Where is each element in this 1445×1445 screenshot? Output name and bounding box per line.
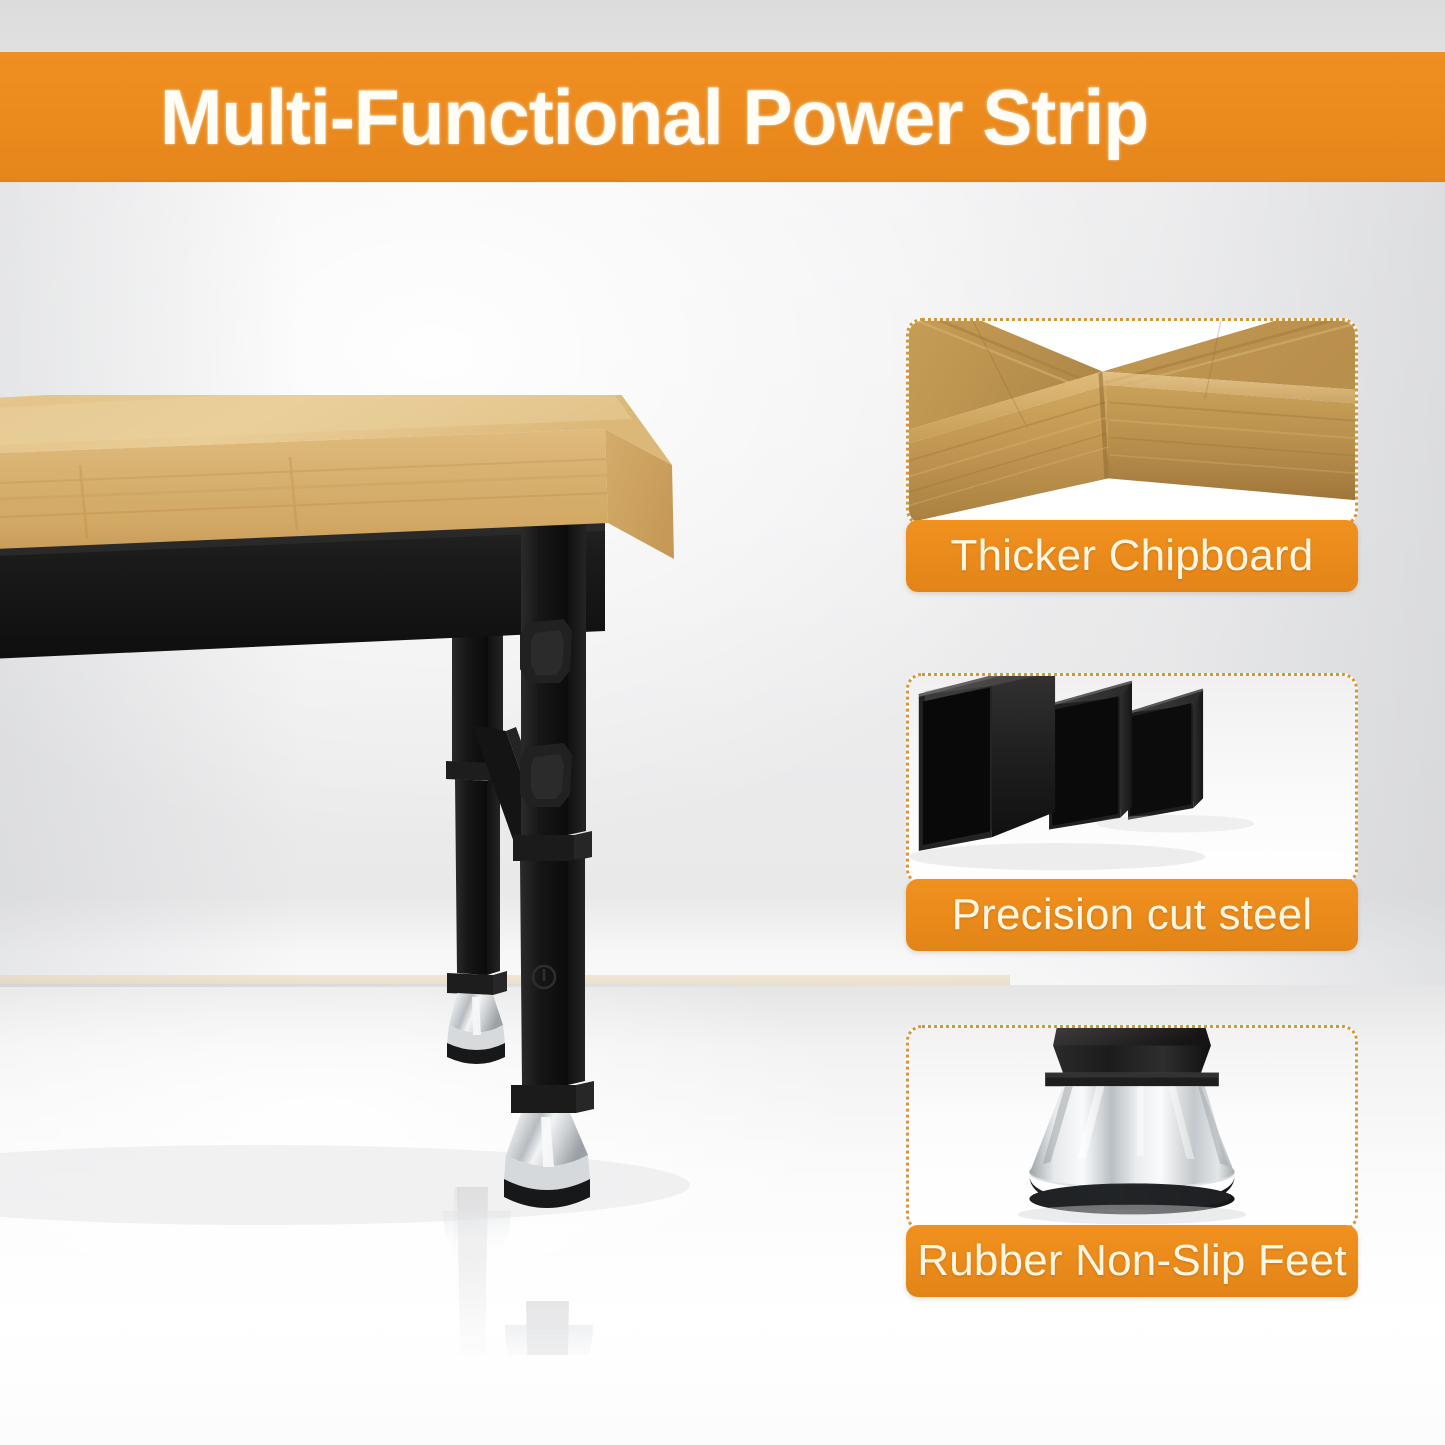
feature-card-label: Rubber Non-Slip Feet — [906, 1225, 1358, 1297]
height-adjust-knob-lower — [520, 743, 572, 807]
feature-card-label: Thicker Chipboard — [906, 520, 1358, 592]
workbench-image — [0, 395, 770, 1355]
chipboard-corner-photo — [906, 318, 1358, 526]
feature-card-thicker-chipboard[interactable]: Thicker Chipboard — [906, 318, 1358, 592]
feature-card-label: Precision cut steel — [906, 879, 1358, 951]
feature-card-label-text: Rubber Non-Slip Feet — [917, 1239, 1347, 1283]
page-title: Multi-Functional Power Strip — [160, 78, 1148, 156]
square-steel-tubes-photo — [906, 673, 1358, 885]
feature-card-label-text: Thicker Chipboard — [951, 534, 1314, 578]
feature-card-rubber-non-slip-feet[interactable]: Rubber Non-Slip Feet — [906, 1025, 1358, 1297]
height-adjust-knob-upper — [520, 619, 572, 683]
header-banner: Multi-Functional Power Strip — [0, 52, 1445, 182]
product-infographic: Thicker Chipboard — [0, 0, 1445, 1445]
leveling-foot-photo — [906, 1025, 1358, 1231]
banner-bottom-shadow — [0, 180, 1445, 183]
feature-card-label-text: Precision cut steel — [952, 893, 1313, 937]
banner-top-strip — [0, 0, 1445, 52]
feature-card-precision-cut-steel[interactable]: Precision cut steel — [906, 673, 1358, 951]
